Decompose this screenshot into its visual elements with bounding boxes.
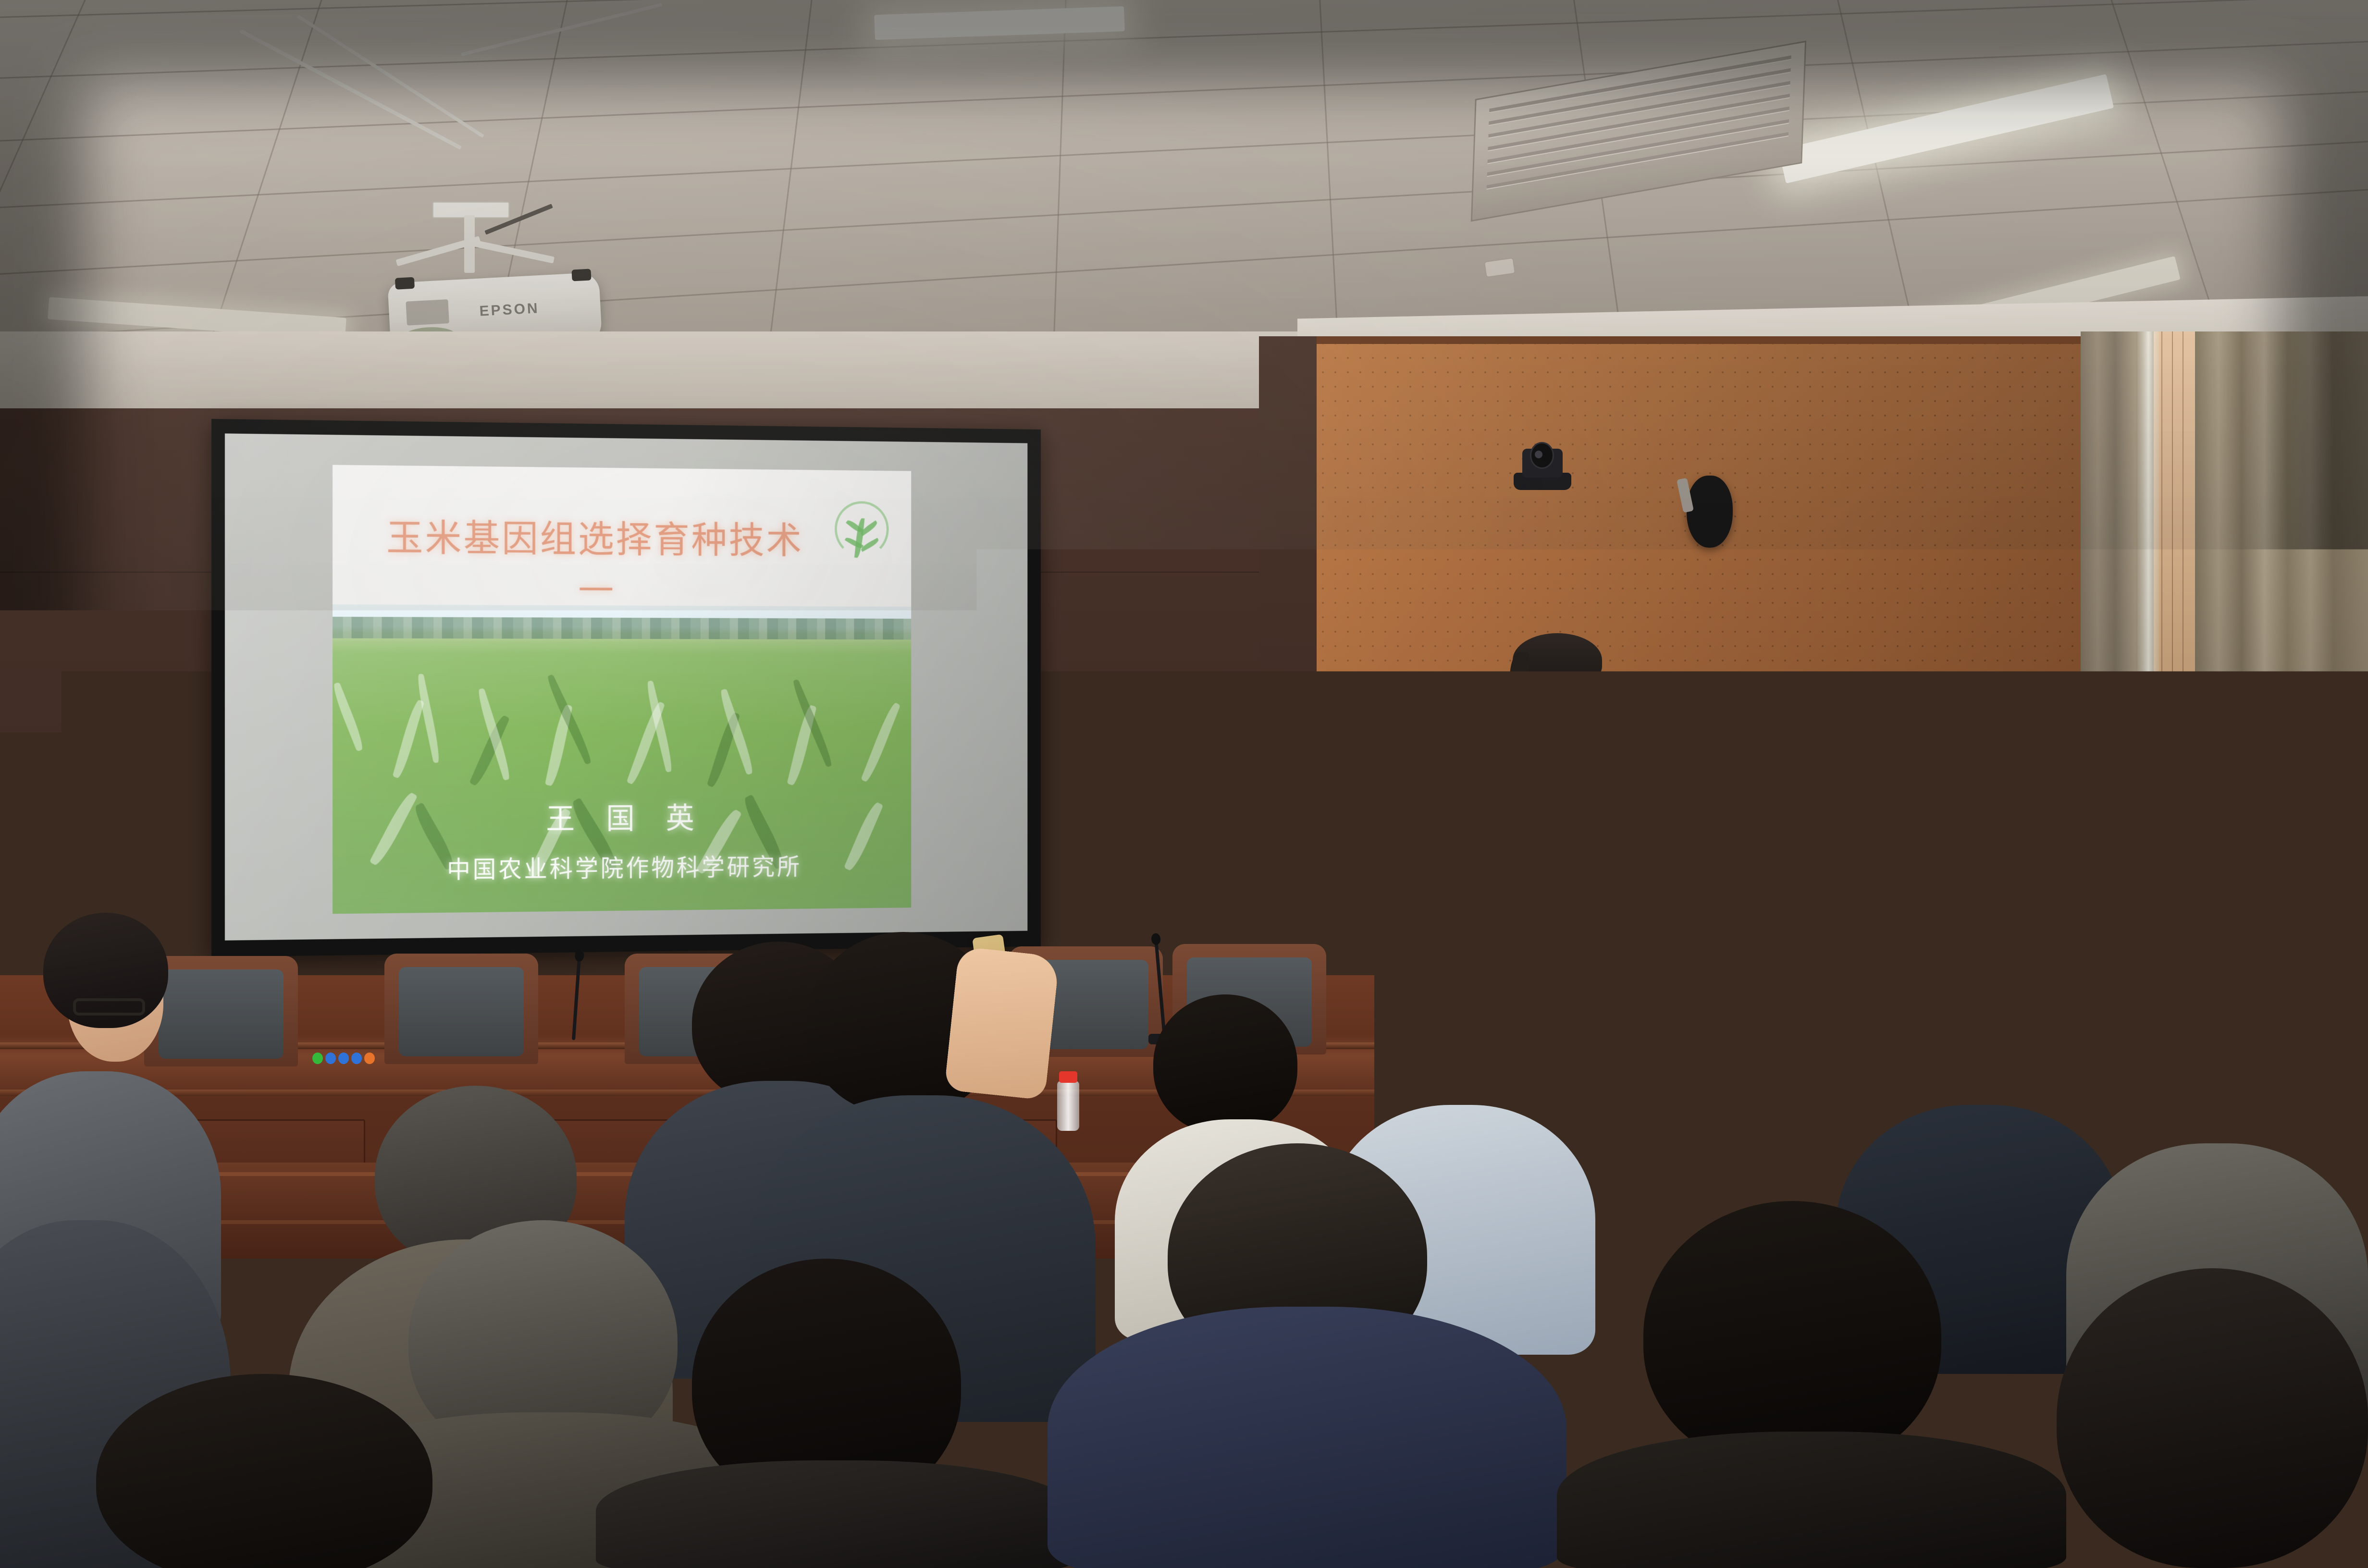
attendee-body-fg-2 — [596, 1460, 1076, 1568]
presentation-slide: 玉米基因组选择育种技术— 研究与展望 — [333, 465, 911, 914]
wall-speaker-icon — [1687, 476, 1733, 548]
attendee-left-eyeglasses-icon — [73, 998, 145, 1016]
slide-presenter-name: 王 国 英 — [333, 793, 911, 839]
attendee-body-fg-3 — [1048, 1307, 1566, 1568]
desk-sticker-dots — [312, 1052, 384, 1065]
eyeglasses-icon — [1515, 681, 1599, 701]
rack-cable-bundle — [1819, 798, 2011, 818]
attendee-body-fg-4 — [1557, 1432, 2066, 1568]
bottle-cap — [1059, 1071, 1077, 1083]
water-bottle — [1057, 1081, 1079, 1131]
presenter-laptop[interactable] — [1422, 815, 1615, 876]
attendee-head-c — [1153, 994, 1297, 1134]
camcorder-tally-light — [210, 1132, 217, 1139]
camcorder-lens-icon — [245, 1130, 287, 1168]
dais-chair-2 — [384, 954, 538, 1064]
slide-maize-field-photo: 王 国 英 中国农业科学院作物科学研究所 — [333, 604, 911, 914]
ptz-camera-icon — [1514, 437, 1571, 490]
projection-screen: 玉米基因组选择育种技术— 研究与展望 — [211, 419, 1041, 957]
slide-affiliation: 中国农业科学院作物科学研究所 — [333, 847, 911, 886]
maize-seedling-logo-icon — [835, 501, 888, 571]
attendee-head-fg-4 — [1643, 1201, 1941, 1470]
attendee-head-fg-6 — [2057, 1268, 2368, 1568]
attendee-raised-hand — [944, 946, 1060, 1100]
screen-surface: 玉米基因组选择育种技术— 研究与展望 — [225, 433, 1027, 940]
lecture-hall-photo: EPSON — [0, 0, 2368, 1568]
camcorder-handle — [161, 1112, 234, 1124]
photo-treeline — [333, 617, 911, 640]
record-indicator-icon — [94, 1158, 100, 1165]
camcorder-lcd-screen[interactable] — [87, 1123, 160, 1171]
camcorder-tripod — [115, 1119, 288, 1552]
